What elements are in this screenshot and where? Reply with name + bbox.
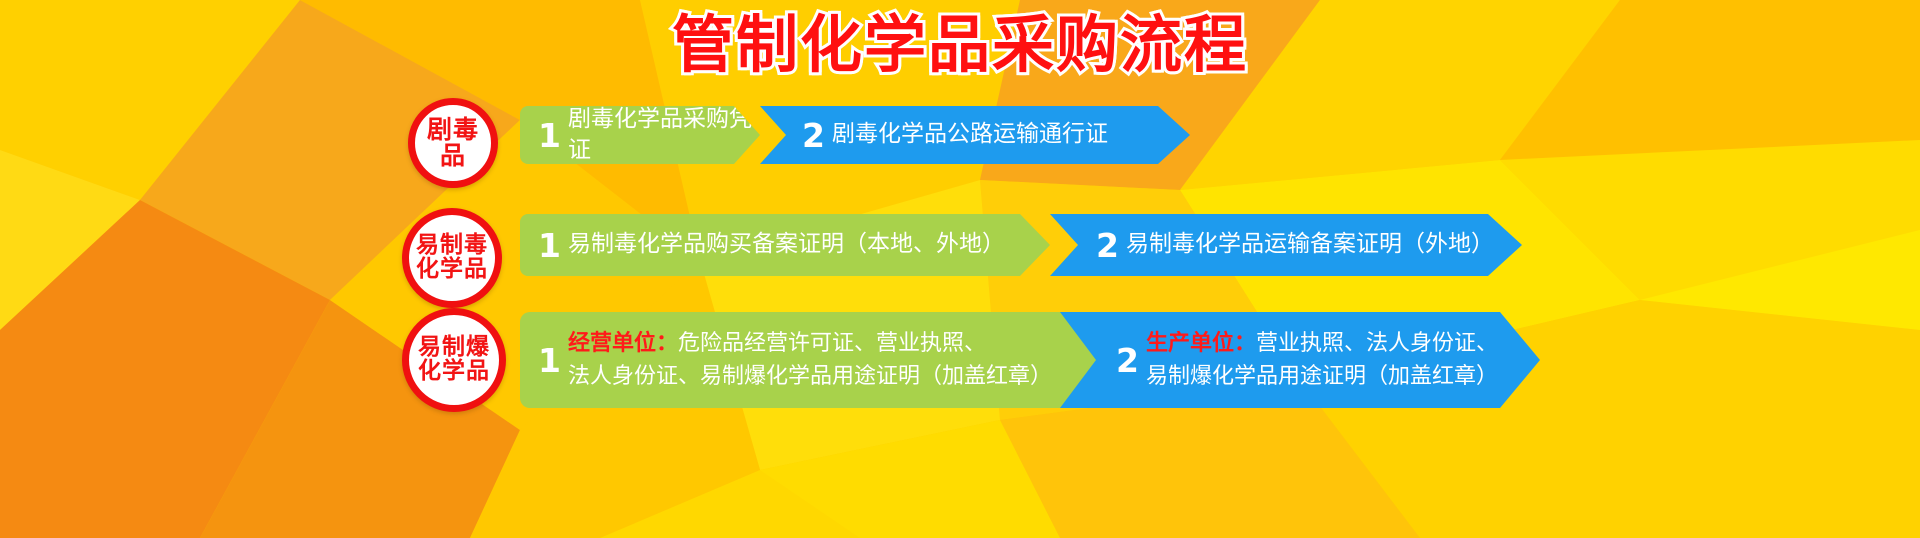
step-chevron-precursor-2[interactable]: 2 易制毒化学品运输备案证明（外地） xyxy=(1050,214,1522,276)
process-row-precursor: 易制毒 化学品 1 易制毒化学品购买备案证明（本地、外地） 2 易制毒化学品运输… xyxy=(0,208,1920,296)
step-number: 1 xyxy=(538,119,561,152)
category-badge-precursor-label: 易制毒 化学品 xyxy=(416,234,488,282)
step-chevron-toxic-1[interactable]: 1 剧毒化学品采购凭证 xyxy=(520,106,760,164)
step-chevron-explosive-2[interactable]: 2 生产单位：营业执照、法人身份证、 易制爆化学品用途证明（加盖红章） xyxy=(1060,312,1540,408)
step-label-separator: ： xyxy=(1234,331,1256,356)
infographic-banner: 管制化学品采购流程 剧毒品 1 剧毒化学品采购凭证 2 剧毒化学品公路运输通行证… xyxy=(0,0,1920,538)
category-badge-toxic-label: 剧毒品 xyxy=(415,117,491,169)
step-number: 1 xyxy=(538,229,561,262)
step-chevron-precursor-1[interactable]: 1 易制毒化学品购买备案证明（本地、外地） xyxy=(520,214,1050,276)
step-number: 2 xyxy=(1116,344,1139,377)
step-label: 剧毒化学品公路运输通行证 xyxy=(832,119,1108,150)
step-chevron-explosive-1[interactable]: 1 经营单位：危险品经营许可证、营业执照、 法人身份证、易制爆化学品用途证明（加… xyxy=(520,312,1160,408)
category-badge-explosive-label: 易制爆 化学品 xyxy=(418,336,490,384)
step-label: 生产单位：营业执照、法人身份证、 易制爆化学品用途证明（加盖红章） xyxy=(1146,327,1498,393)
category-badge-toxic: 剧毒品 xyxy=(408,98,498,188)
step-number: 2 xyxy=(1096,229,1119,262)
step-label-highlight: 生产单位 xyxy=(1146,331,1234,356)
step-label-separator: ： xyxy=(656,331,678,356)
step-label: 易制毒化学品运输备案证明（外地） xyxy=(1126,229,1494,260)
step-label: 易制毒化学品购买备案证明（本地、外地） xyxy=(568,229,1005,260)
step-chevron-toxic-2[interactable]: 2 剧毒化学品公路运输通行证 xyxy=(760,106,1190,164)
category-badge-explosive: 易制爆 化学品 xyxy=(402,308,506,412)
process-row-toxic: 剧毒品 1 剧毒化学品采购凭证 2 剧毒化学品公路运输通行证 xyxy=(0,100,1920,186)
step-label-highlight: 经营单位 xyxy=(568,331,656,356)
category-badge-precursor: 易制毒 化学品 xyxy=(402,208,502,308)
process-row-explosive: 易制爆 化学品 1 经营单位：危险品经营许可证、营业执照、 法人身份证、易制爆化… xyxy=(0,308,1920,416)
step-number: 2 xyxy=(802,119,825,152)
step-label: 剧毒化学品采购凭证 xyxy=(568,104,760,166)
step-label: 经营单位：危险品经营许可证、营业执照、 法人身份证、易制爆化学品用途证明（加盖红… xyxy=(568,327,1052,393)
step-number: 1 xyxy=(538,344,561,377)
page-title: 管制化学品采购流程 xyxy=(0,8,1920,82)
